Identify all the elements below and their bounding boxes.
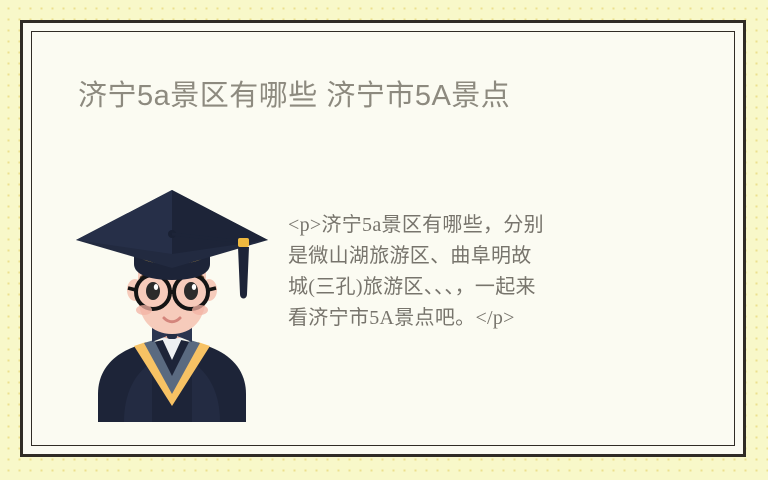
tassel-bead bbox=[238, 238, 249, 247]
cheek-left bbox=[136, 305, 152, 315]
glasses-temple-right bbox=[208, 288, 216, 290]
graduate-student-svg bbox=[68, 182, 276, 422]
inner-frame: 济宁5a景区有哪些 济宁市5A景点 bbox=[31, 31, 735, 446]
content-row: <p>济宁5a景区有哪些，分别是微山湖旅游区、曲阜明故城(三孔)旅游区、、、，一… bbox=[60, 182, 706, 422]
article-body-text: <p>济宁5a景区有哪些，分别是微山湖旅游区、曲阜明故城(三孔)旅游区、、、，一… bbox=[288, 210, 550, 334]
mortarboard-left-face bbox=[76, 190, 172, 254]
tassel-strands bbox=[238, 247, 249, 299]
cheek-right bbox=[192, 305, 208, 315]
outer-frame: 济宁5a景区有哪些 济宁市5A景点 bbox=[20, 20, 746, 457]
graduate-student-illustration bbox=[68, 182, 276, 422]
glasses-temple-left bbox=[128, 288, 136, 290]
eye-right bbox=[184, 282, 198, 300]
eye-highlight-right bbox=[192, 284, 196, 290]
eye-highlight-left bbox=[154, 284, 158, 290]
page-title: 济宁5a景区有哪些 济宁市5A景点 bbox=[78, 76, 510, 116]
mortarboard-right-face bbox=[172, 190, 268, 254]
eye-left bbox=[146, 282, 160, 300]
